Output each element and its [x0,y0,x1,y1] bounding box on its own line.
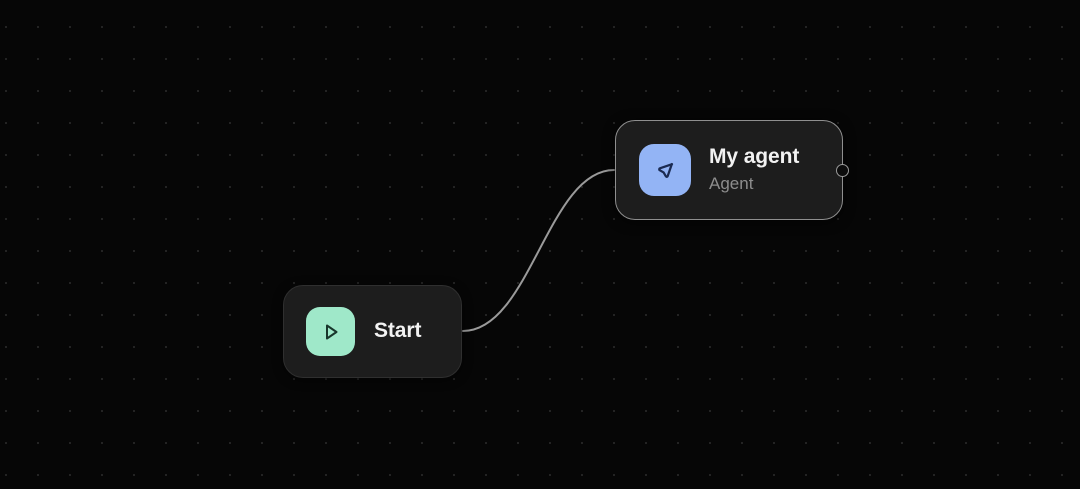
node-agent-title: My agent [709,145,799,170]
node-start-title: Start [374,319,421,344]
agent-output-port[interactable] [836,164,849,177]
node-my-agent[interactable]: My agent Agent [615,120,843,220]
play-triangle-icon [306,307,355,356]
edge-start-to-agent[interactable] [463,170,614,331]
node-start[interactable]: Start [283,285,462,378]
node-agent-subtitle: Agent [709,173,799,194]
node-agent-text: My agent Agent [709,145,799,194]
cursor-arrow-icon [639,144,691,196]
agent-flow-canvas[interactable]: Start My agent Agent [0,0,1080,489]
node-start-text: Start [374,319,421,344]
edges-layer [0,0,1080,489]
